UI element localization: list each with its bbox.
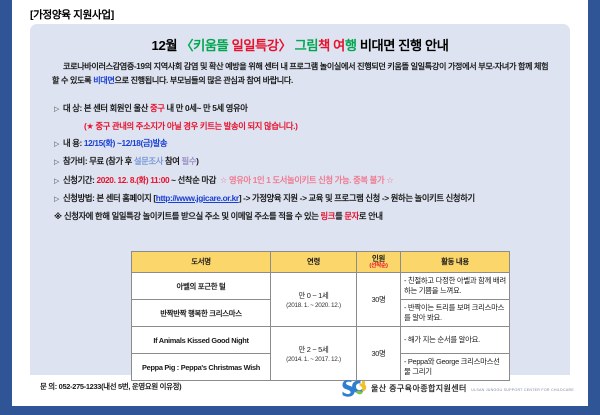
bullet-content-dates: 12/15(화) ~12/18(금)발송 xyxy=(84,138,167,148)
triangle-bullet-icon: ▷ xyxy=(54,174,63,190)
note-sms-word: 문자 xyxy=(344,211,359,221)
list-item-content: ▷내 용: 12/15(화) ~12/18(금)발송 xyxy=(54,135,562,153)
note-post: 로 안내 xyxy=(359,211,383,221)
cell-capacity-2: 30명 xyxy=(357,327,401,381)
bullet-label-fee: 참가비: xyxy=(63,156,87,166)
bullet-label-target: 대 상: xyxy=(63,103,82,113)
bullet-target-accent: 중구 xyxy=(150,103,165,113)
intro-highlight-noncontact: 비대면 xyxy=(93,76,114,85)
asterisk-note: ※ 신청자에 한해 일일특강 놀이키트를 받으실 주소 및 이메일 주소를 적을… xyxy=(54,208,562,224)
notice-card: 12월 〈키움뜰 일일특강〉 그림책 여행 비대면 진행 안내 코로나바이러스감… xyxy=(30,24,570,375)
title-part-travel-1: 여 xyxy=(333,38,345,53)
asterisk-icon: ※ xyxy=(54,208,62,224)
book-table-wrapper: 도서명 연령 인원(선착순) 활동 내용 아벨의 포근한 털 만 0 ~ 1세 … xyxy=(131,251,509,381)
cell-age-group-2: 만 2 ~ 5세 (2014. 1. ~ 2017. 12.) xyxy=(271,327,357,381)
logo-name-korean: 울산 중구육아종합지원센터 xyxy=(371,384,467,393)
header-sub-first-come: (선착순) xyxy=(360,263,397,270)
bottom-blue-bar xyxy=(12,406,588,415)
bullet-label-content: 내 용: xyxy=(63,138,82,148)
cell-activity: - 해가 지는 순서를 알아요. xyxy=(401,327,510,354)
table-row: If Animals Kissed Good Night 만 2 ~ 5세 (2… xyxy=(132,327,510,354)
bullet-label-method: 신청방법: xyxy=(63,193,95,203)
bullet-target-post: 내 만 0세~ 만 5세 영유아 xyxy=(165,103,248,113)
age-range-2: 만 2 ~ 5세 xyxy=(299,345,329,354)
title-part-month: 12월 xyxy=(152,38,181,53)
title-part-special-lecture: 일일특강〉 xyxy=(232,38,292,53)
header-label-activity: 활동 내용 xyxy=(441,257,469,266)
info-bullet-list: ▷대 상: 본 센터 회원인 울산 중구 내 만 0세~ 만 5세 영유아 (★… xyxy=(54,100,562,225)
bullet-method-pre: 본 센터 홈페이지 [ xyxy=(95,193,156,203)
note-mid: 를 xyxy=(335,211,344,221)
bullet-fee-mid: 참여 xyxy=(163,156,181,166)
column-header-capacity: 인원(선착순) xyxy=(357,252,401,273)
triangle-bullet-icon: ▷ xyxy=(54,192,63,208)
cell-book-title: If Animals Kissed Good Night xyxy=(132,327,271,354)
column-header-age: 연령 xyxy=(271,252,357,273)
bullet-period-datetime: 2020. 12. 8.(화) 11:00 xyxy=(97,175,170,185)
cell-capacity-1: 30명 xyxy=(357,273,401,327)
list-item-target: ▷대 상: 본 센터 회원인 울산 중구 내 만 0세~ 만 5세 영유아 xyxy=(54,100,562,118)
cell-book-title: 반짝반짝 행복한 크리스마스 xyxy=(132,300,271,327)
table-row: 아벨의 포근한 털 만 0 ~ 1세 (2018. 1. ~ 2020. 12.… xyxy=(132,273,510,300)
title-part-tail: 비대면 진행 안내 xyxy=(357,38,449,53)
document-page: [가정양육 지원사업] 12월 〈키움뜰 일일특강〉 그림책 여행 비대면 진행… xyxy=(12,0,588,415)
cell-age-group-1: 만 0 ~ 1세 (2018. 1. ~ 2020. 12.) xyxy=(271,273,357,327)
note-link-word: 링크 xyxy=(320,211,335,221)
bullet-target-pre: 본 센터 회원인 울산 xyxy=(82,103,150,113)
program-tag: [가정양육 지원사업] xyxy=(30,7,114,22)
triangle-bullet-icon: ▷ xyxy=(54,102,63,118)
bullet-period-trailing-note: ☆ 영유아 1인 1 도서놀이키트 신청 가능. 중복 불가 ☆ xyxy=(220,175,393,185)
page-title: 12월 〈키움뜰 일일특강〉 그림책 여행 비대면 진행 안내 xyxy=(30,35,570,54)
column-header-book-title: 도서명 xyxy=(132,252,271,273)
center-logo: 울산 중구육아종합지원센터 ULSAN JUNGGU SUPPORT CENTE… xyxy=(341,378,574,397)
list-item-fee: ▷참가비: 무료 (참가 후 설문조사 참여 필수) xyxy=(54,153,562,171)
book-program-table: 도서명 연령 인원(선착순) 활동 내용 아벨의 포근한 털 만 0 ~ 1세 … xyxy=(131,251,510,381)
header-label-age: 연령 xyxy=(307,257,320,266)
age-range-1: 만 0 ~ 1세 xyxy=(299,291,329,300)
bullet-fee-survey: 설문조사 xyxy=(134,156,163,166)
cell-activity: - 반짝이는 트리를 보며 크리스마스를 알아 봐요. xyxy=(401,300,510,327)
list-item-target-note: (★ 중구 관내의 주소지가 아닐 경우 키트는 발송이 되지 않습니다.) xyxy=(54,118,562,134)
age-years-2: (2014. 1. ~ 2017. 12.) xyxy=(274,356,353,363)
header-label-book: 도서명 xyxy=(191,257,211,266)
logo-mark-icon xyxy=(341,378,367,397)
triangle-bullet-icon: ▷ xyxy=(54,137,63,153)
logo-name-english: ULSAN JUNGGU SUPPORT CENTER FOR CHILDCAR… xyxy=(471,388,574,392)
homepage-link[interactable]: http://www.jgicare.or.kr xyxy=(156,193,239,203)
bullet-fee-post: ) xyxy=(196,156,198,166)
header-label-capacity: 인원 xyxy=(372,254,385,263)
bullet-fee-pre: 무료 (참가 후 xyxy=(87,156,134,166)
title-part-picture: 그림 xyxy=(295,38,318,53)
title-part-kiumddeul: 〈키움뜰 xyxy=(180,38,231,53)
bullet-method-post: ] -> 가정양육 지원 -> 교육 및 프로그램 신청 -> 원하는 놀이키트… xyxy=(239,193,475,203)
cell-activity: - 친절하고 다정한 아벨과 함께 배려하는 기쁨을 느껴요. xyxy=(401,273,510,300)
cell-book-title: Peppa Pig : Peppa's Christmas Wish xyxy=(132,354,271,381)
logo-text: 울산 중구육아종합지원센터 ULSAN JUNGGU SUPPORT CENTE… xyxy=(371,379,574,396)
title-part-book: 책 xyxy=(318,38,333,53)
bullet-label-period: 신청기간: xyxy=(63,175,95,185)
bullet-fee-required: 필수 xyxy=(182,156,197,166)
cell-activity: - Peppa와 George 크리스마스선물 그리기 xyxy=(401,354,510,381)
bullet-period-post: ~ 선착순 마감 xyxy=(169,175,216,185)
intro-paragraph: 코로나바이러스감염증-19의 지역사회 감염 및 확산 예방을 위해 센터 내 … xyxy=(52,60,552,89)
intro-text-b: 으로 진행됩니다. 부모님들의 많은 관심과 참여 바랍니다. xyxy=(114,76,292,85)
list-item-how-to-apply: ▷신청방법: 본 센터 홈페이지 [http://www.jgicare.or.… xyxy=(54,190,562,208)
title-part-travel-2: 행 xyxy=(345,38,357,53)
triangle-bullet-icon: ▷ xyxy=(54,155,63,171)
contact-info: 문 의: 052-275-1233(내선 5번, 운영요원 이유정) xyxy=(40,381,181,392)
table-header-row: 도서명 연령 인원(선착순) 활동 내용 xyxy=(132,252,510,273)
bullet-target-parenthetical: (★ 중구 관내의 주소지가 아닐 경우 키트는 발송이 되지 않습니다.) xyxy=(84,121,298,131)
age-years-1: (2018. 1. ~ 2020. 12.) xyxy=(274,302,353,309)
column-header-activity: 활동 내용 xyxy=(401,252,510,273)
note-pre: 신청자에 한해 일일특강 놀이키트를 받으실 주소 및 이메일 주소를 적을 수… xyxy=(62,211,320,221)
list-item-application-period: ▷신청기간: 2020. 12. 8.(화) 11:00 ~ 선착순 마감 ☆ … xyxy=(54,172,562,190)
cell-book-title: 아벨의 포근한 털 xyxy=(132,273,271,300)
